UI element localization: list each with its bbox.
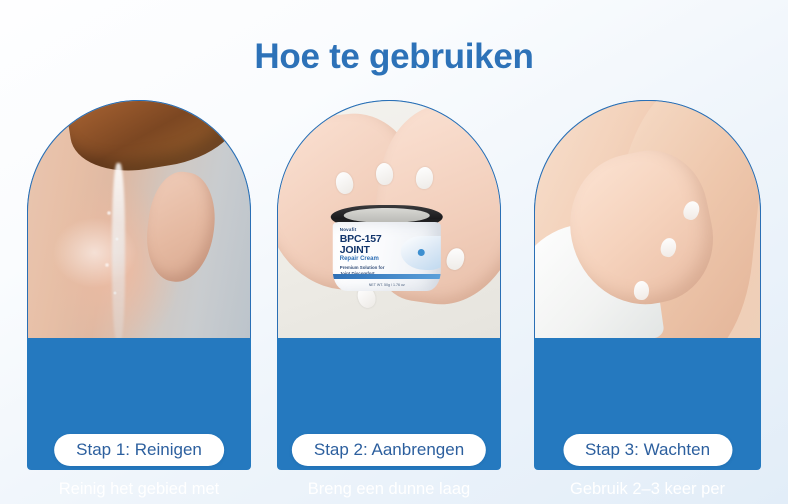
- product-name: BPC-157 JOINT: [340, 234, 382, 255]
- step-description-1: Reinig het gebied met milde zeep en wate…: [21, 478, 257, 504]
- page-title: Hoe te gebruiken: [0, 38, 788, 77]
- hand-shape: [142, 168, 221, 285]
- step-badge-1: Stap 1: Reinigen: [54, 434, 224, 466]
- step-card-2: Novafit BPC-157 JOINT Repair Cream Premi…: [277, 100, 501, 470]
- hand-massaging-knee-photo: [534, 100, 761, 338]
- step-card-1: Stap 1: Reinigen Reinig het gebied met m…: [27, 100, 251, 470]
- jar-opening: [344, 208, 429, 223]
- step-badge-2: Stap 2: Aanbrengen: [292, 434, 486, 466]
- water-droplets: [103, 205, 125, 325]
- label-dot-graphic: [418, 249, 425, 256]
- step-card-3: Stap 3: Wachten Gebruik 2–3 keer per dag…: [534, 100, 761, 470]
- hands-holding-cream-jar-photo: Novafit BPC-157 JOINT Repair Cream Premi…: [277, 100, 501, 338]
- step-description-3: Gebruik 2–3 keer per dag voor het beste …: [528, 478, 767, 504]
- product-subtitle: Repair Cream: [340, 256, 379, 262]
- jar-label: Novafit BPC-157 JOINT Repair Cream Premi…: [333, 222, 441, 291]
- product-jar: Novafit BPC-157 JOINT Repair Cream Premi…: [331, 205, 443, 291]
- how-to-use-infographic: Hoe te gebruiken Stap 1: Reinigen Reinig…: [0, 0, 788, 504]
- label-stripe: [333, 274, 441, 279]
- step-badge-3: Stap 3: Wachten: [563, 434, 732, 466]
- step-description-2: Breng een dunne laag crème aan en massee…: [271, 478, 507, 504]
- product-net-weight: NET WT. 50g / 1.76 oz: [333, 281, 441, 289]
- shower-water-on-shoulder-photo: [27, 100, 251, 338]
- product-brand: Novafit: [340, 227, 357, 232]
